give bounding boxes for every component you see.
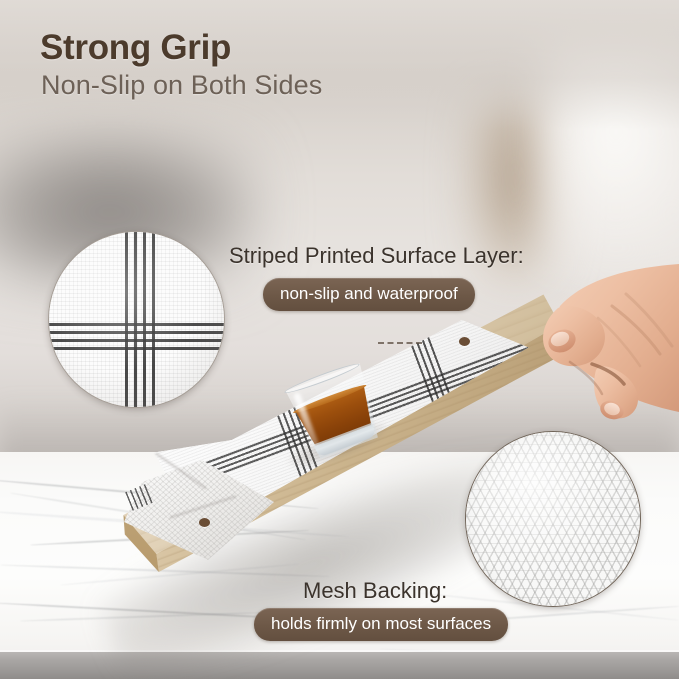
mesh-swatch-shading bbox=[466, 432, 640, 606]
status-badge-surface-layer: non-slip and waterproof bbox=[263, 278, 475, 311]
callout-leader-line bbox=[378, 342, 422, 344]
hand-gripping-board bbox=[500, 262, 679, 432]
plaid-fabric-swatch-icon bbox=[48, 231, 225, 408]
page-subtitle: Non-Slip on Both Sides bbox=[41, 70, 322, 101]
counter-front-edge bbox=[0, 652, 679, 679]
plaid-swatch-shading bbox=[49, 232, 224, 407]
status-badge-mesh-backing: holds firmly on most surfaces bbox=[254, 608, 508, 641]
page-title: Strong Grip bbox=[40, 28, 231, 68]
mat-eyelet bbox=[459, 337, 470, 346]
product-infographic: Strong Grip Non-Slip on Both Sides Strip… bbox=[0, 0, 679, 679]
callout-label-surface-layer: Striped Printed Surface Layer: bbox=[229, 243, 524, 269]
callout-label-mesh-backing: Mesh Backing: bbox=[303, 578, 447, 604]
mesh-weave-swatch-icon bbox=[465, 431, 641, 607]
mat-eyelet bbox=[199, 518, 210, 527]
